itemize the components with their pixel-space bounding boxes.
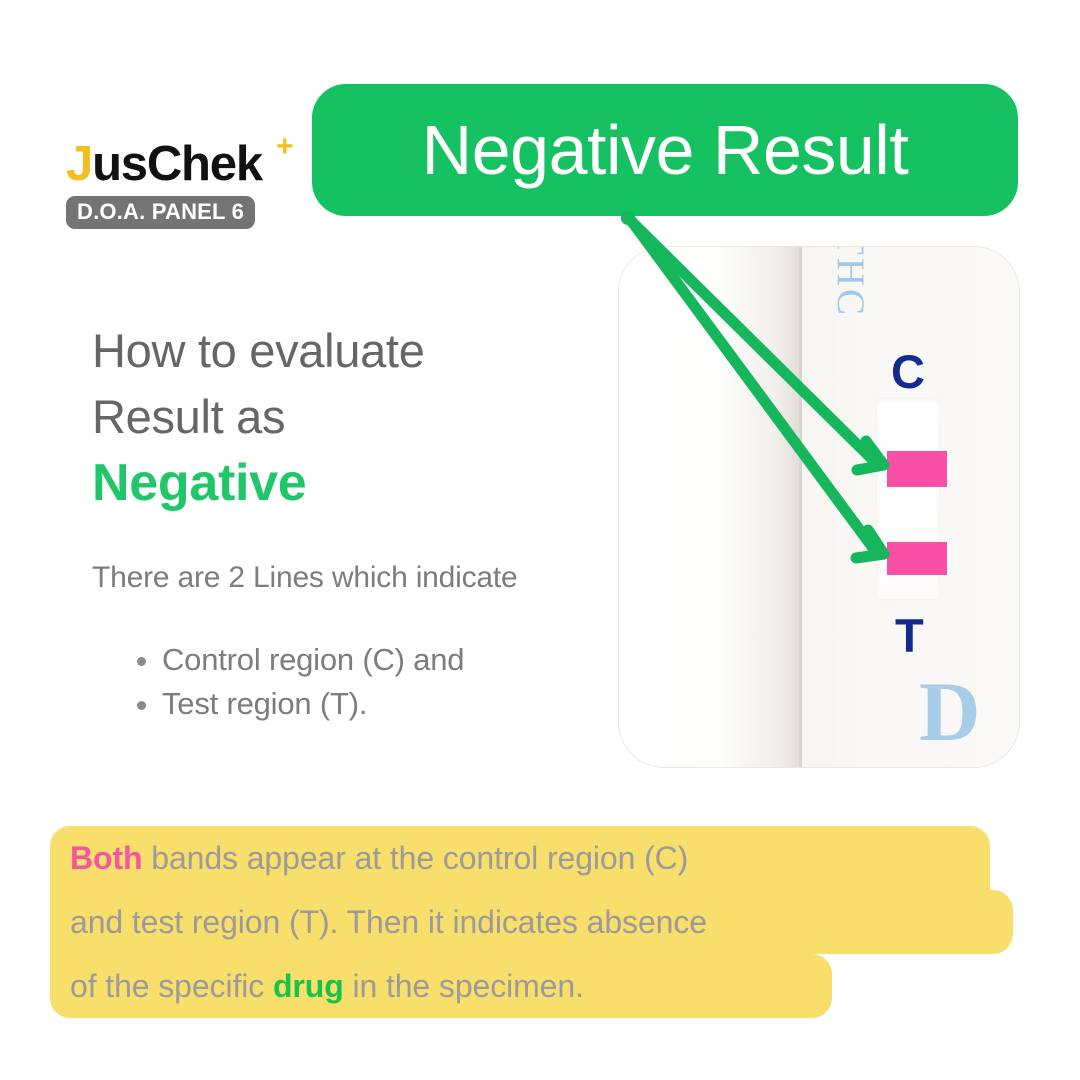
page-title-line-2: Result as (92, 390, 285, 443)
control-band (887, 451, 947, 487)
plus-icon: + (276, 132, 294, 162)
device-letter-label: D (919, 667, 980, 757)
test-cassette-photo: THC C T D (618, 246, 1020, 768)
lines-description: There are 2 Lines which indicate (92, 558, 522, 597)
panel-badge: D.O.A. PANEL 6 (66, 196, 255, 229)
brand-wordmark-j: J (66, 137, 92, 191)
region-list: Control region (C) and Test region (T). (120, 638, 622, 726)
brand-wordmark-rest: usChek (92, 137, 262, 191)
negative-result-banner: Negative Result (312, 84, 1018, 216)
test-region-label: T (895, 611, 924, 661)
list-item: Test region (T). (162, 682, 622, 726)
summary-note-line-2: and test region (T). Then it indicates a… (50, 890, 1013, 954)
brand-wordmark: JusChek (66, 136, 262, 192)
summary-note-line-3-pre: of the specific (70, 968, 273, 1004)
cassette-seam (799, 247, 802, 767)
brand-logo: JusChek + D.O.A. PANEL 6 (64, 136, 314, 236)
drug-code-label: THC (828, 246, 873, 318)
control-region-label: C (891, 347, 925, 397)
negative-result-banner-label: Negative Result (422, 111, 909, 189)
summary-note: Both bands appear at the control region … (50, 826, 1020, 1026)
summary-note-line-3-post: in the specimen. (344, 968, 584, 1004)
test-band (887, 542, 947, 575)
page-title-line-3: Negative (92, 454, 306, 512)
page-title-line-1: How to evaluate (92, 324, 425, 377)
summary-note-line-3: of the specific drug in the specimen. (50, 954, 832, 1018)
summary-note-line-1: Both bands appear at the control region … (50, 826, 990, 890)
list-item: Control region (C) and (162, 638, 622, 682)
summary-highlight-drug: drug (273, 968, 344, 1004)
summary-note-line-1-rest: bands appear at the control region (C) (142, 840, 688, 876)
summary-highlight-both: Both (70, 840, 142, 876)
cassette-left-panel (619, 247, 801, 767)
page-title: How to evaluate Result as Negative (92, 318, 592, 517)
